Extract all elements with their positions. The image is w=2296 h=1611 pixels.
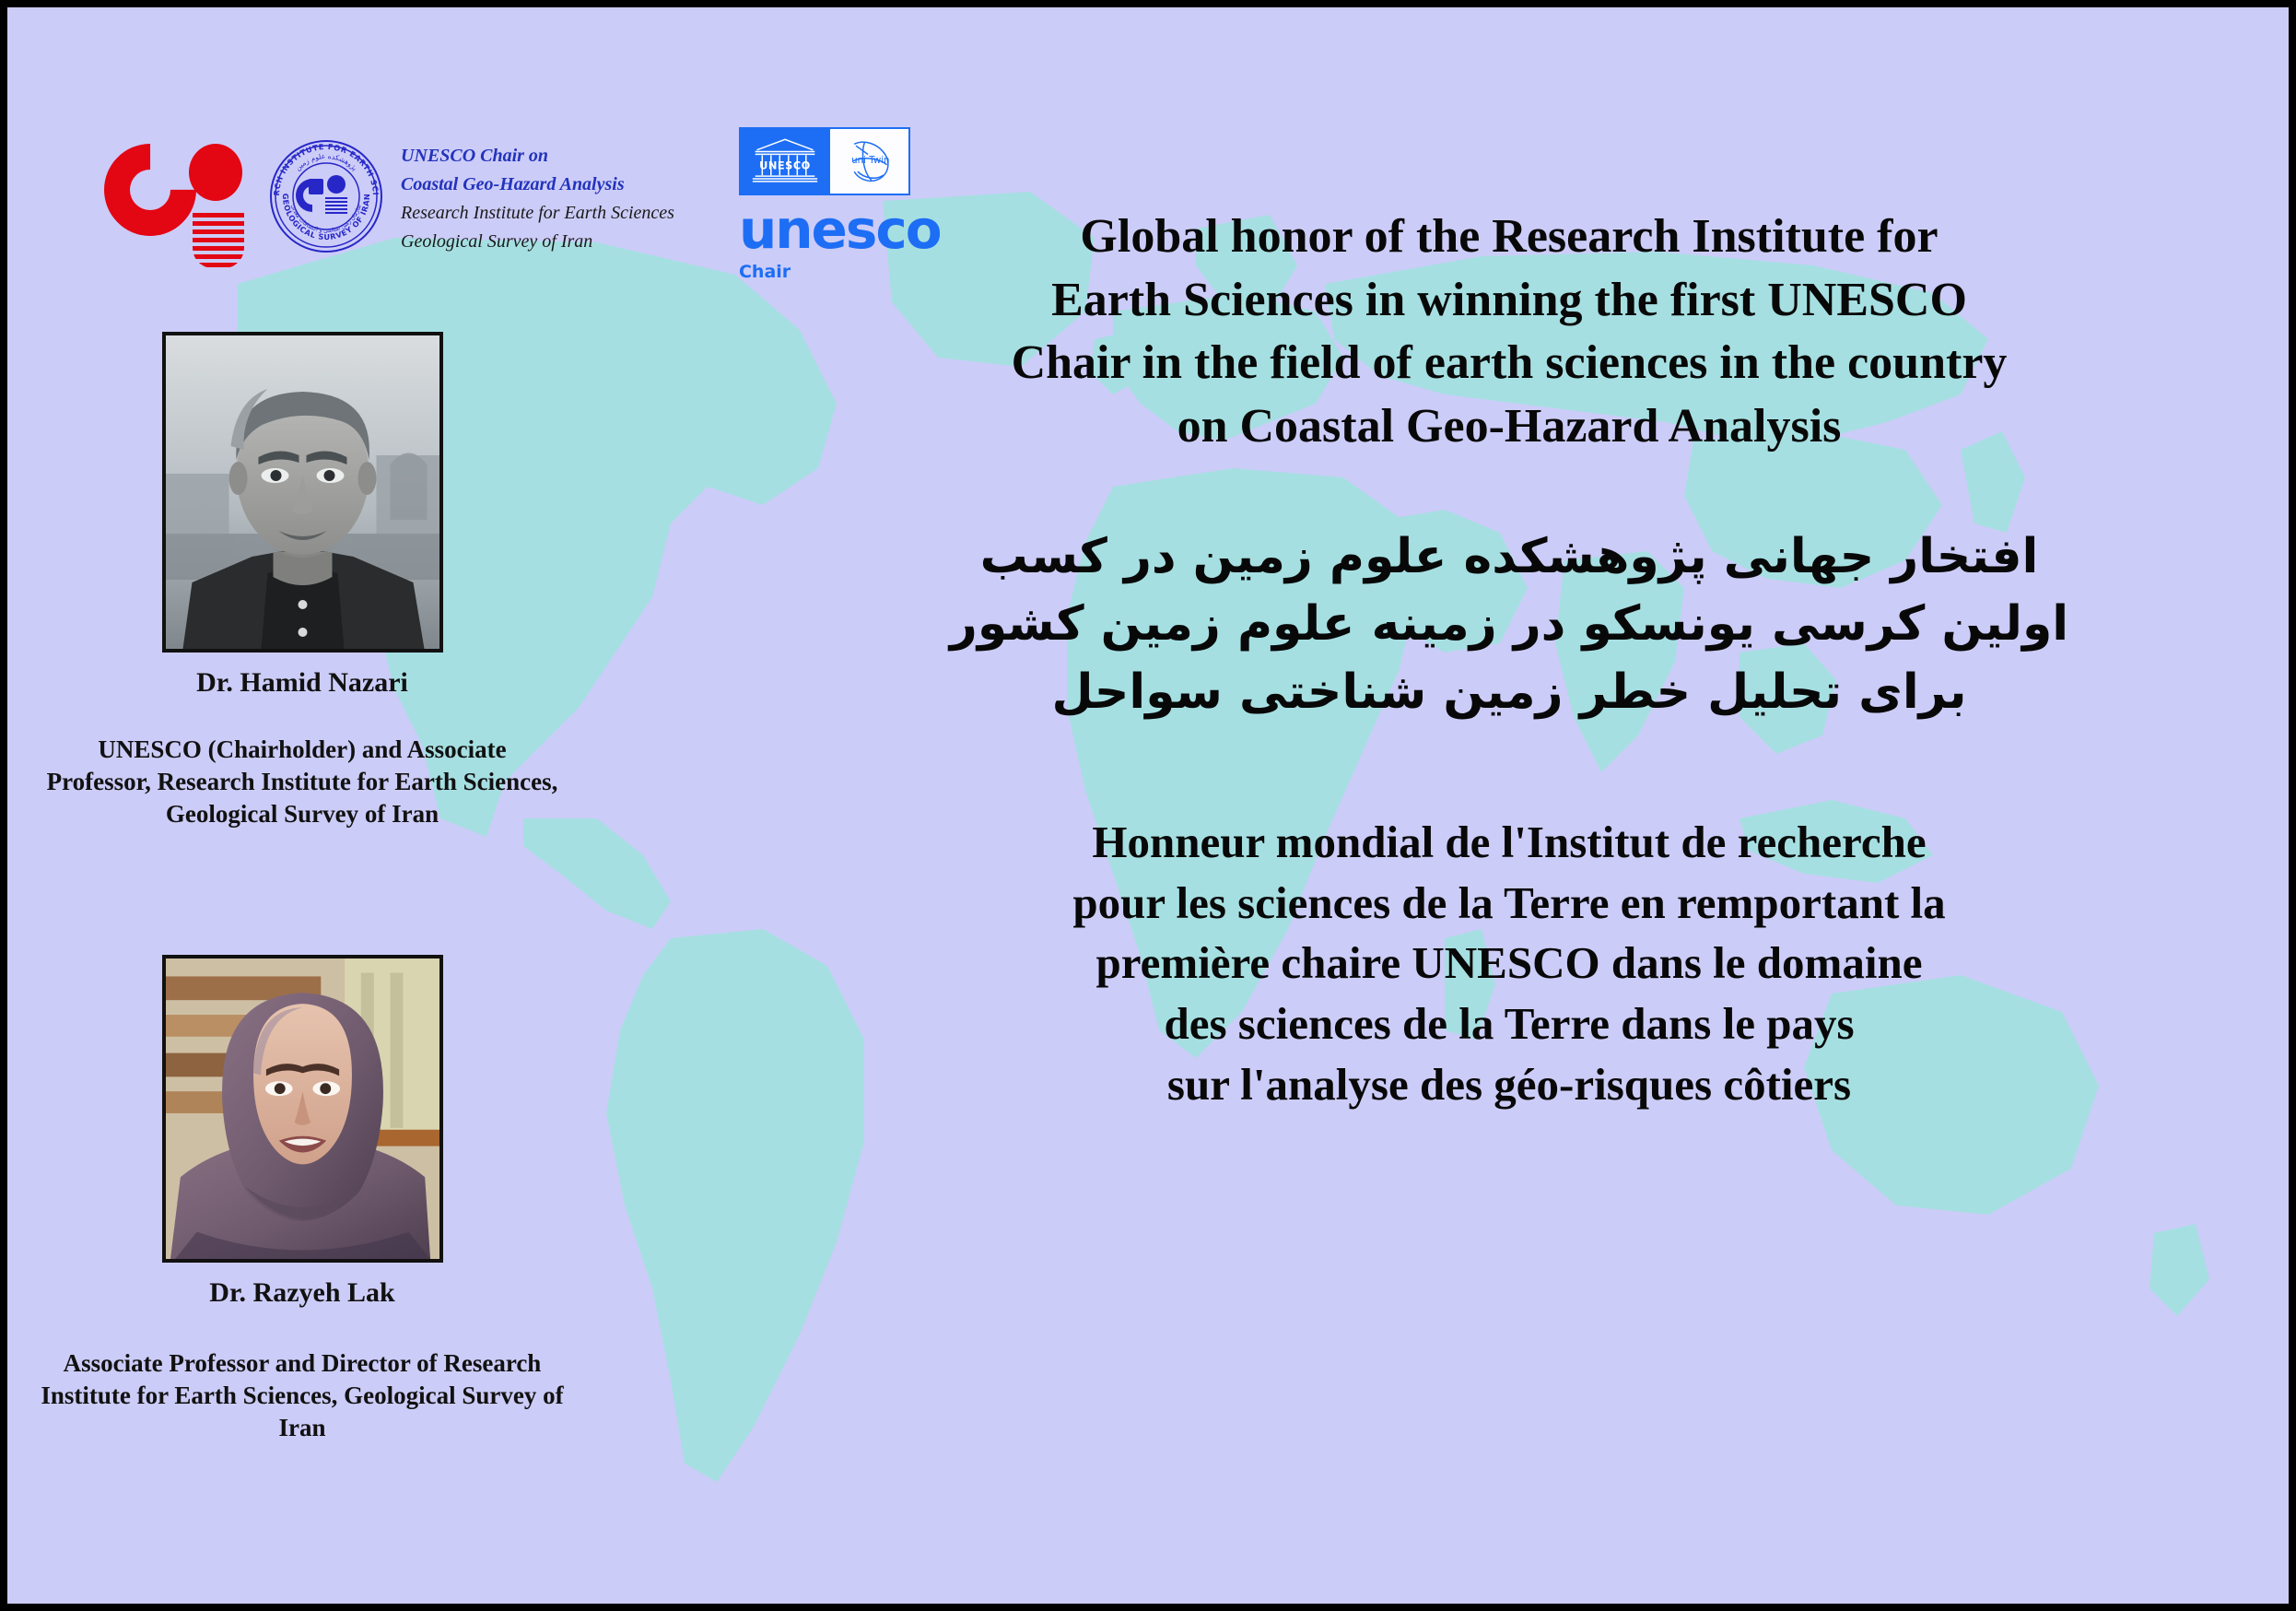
person-role-lak: Associate Professor and Director of Rese… <box>26 1347 579 1444</box>
gsi-dot-shape <box>189 144 242 201</box>
title-en-line-4: on Coastal Geo-Hazard Analysis <box>744 395 2274 459</box>
chair-line-1: UNESCO Chair on <box>401 142 674 171</box>
title-fr-line-3: première chaire UNESCO dans le domaine <box>744 933 2274 994</box>
gsi-stripes-shape <box>193 213 244 268</box>
title-fr-line-4: des sciences de la Terre dans le pays <box>744 994 2274 1054</box>
person-role-nazari: UNESCO (Chairholder) and Associate Profe… <box>44 734 560 830</box>
title-fa-line-2: اولین کرسی یونسکو در زمینه علوم زمین کشو… <box>744 591 2274 659</box>
unesco-chair-text-block: UNESCO Chair on Coastal Geo-Hazard Analy… <box>401 142 674 256</box>
title-en-line-3: Chair in the field of earth sciences in … <box>744 332 2274 395</box>
gsi-logo <box>104 135 242 254</box>
person-name-lak: Dr. Razyeh Lak <box>7 1277 597 1309</box>
person-card-nazari: Dr. Hamid Nazari UNESCO (Chairholder) an… <box>7 332 597 830</box>
chair-line-2: Coastal Geo-Hazard Analysis <box>401 171 674 199</box>
chair-line-4: Geological Survey of Iran <box>401 228 674 256</box>
title-persian: افتخار جهانی پژوهشکده علوم زمین در کسب ا… <box>744 523 2274 727</box>
svg-text:GEOLOGICAL SURVEY OF IRAN: GEOLOGICAL SURVEY OF IRAN <box>281 194 371 241</box>
title-fa-line-3: برای تحلیل خطر زمین شناختی سواحل <box>744 659 2274 727</box>
portrait-photo-nazari <box>162 332 443 653</box>
main-text-column: Global honor of the Research Institute f… <box>744 7 2274 1114</box>
title-english: Global honor of the Research Institute f… <box>744 206 2274 459</box>
person-card-lak: Dr. Razyeh Lak Associate Professor and D… <box>7 955 597 1444</box>
title-en-line-1: Global honor of the Research Institute f… <box>744 206 2274 269</box>
title-en-line-2: Earth Sciences in winning the first UNES… <box>744 269 2274 333</box>
title-fr-line-5: sur l'analyse des géo-risques côtiers <box>744 1054 2274 1115</box>
title-french: Honneur mondial de l'Institut de recherc… <box>744 812 2274 1114</box>
chair-line-3: Research Institute for Earth Sciences <box>401 199 674 228</box>
title-fa-line-1: افتخار جهانی پژوهشکده علوم زمین در کسب <box>744 523 2274 592</box>
title-fr-line-1: Honneur mondial de l'Institut de recherc… <box>744 812 2274 873</box>
person-name-nazari: Dr. Hamid Nazari <box>7 667 597 699</box>
poster-canvas: RESEARCH INSTITUTE FOR EARTH SCIENCES GE… <box>7 7 2289 1604</box>
research-institute-seal-icon: RESEARCH INSTITUTE FOR EARTH SCIENCES GE… <box>268 138 384 254</box>
title-fr-line-2: pour les sciences de la Terre en remport… <box>744 873 2274 934</box>
svg-text:RESEARCH INSTITUTE FOR EARTH S: RESEARCH INSTITUTE FOR EARTH SCIENCES <box>268 138 381 196</box>
portrait-photo-lak <box>162 955 443 1263</box>
